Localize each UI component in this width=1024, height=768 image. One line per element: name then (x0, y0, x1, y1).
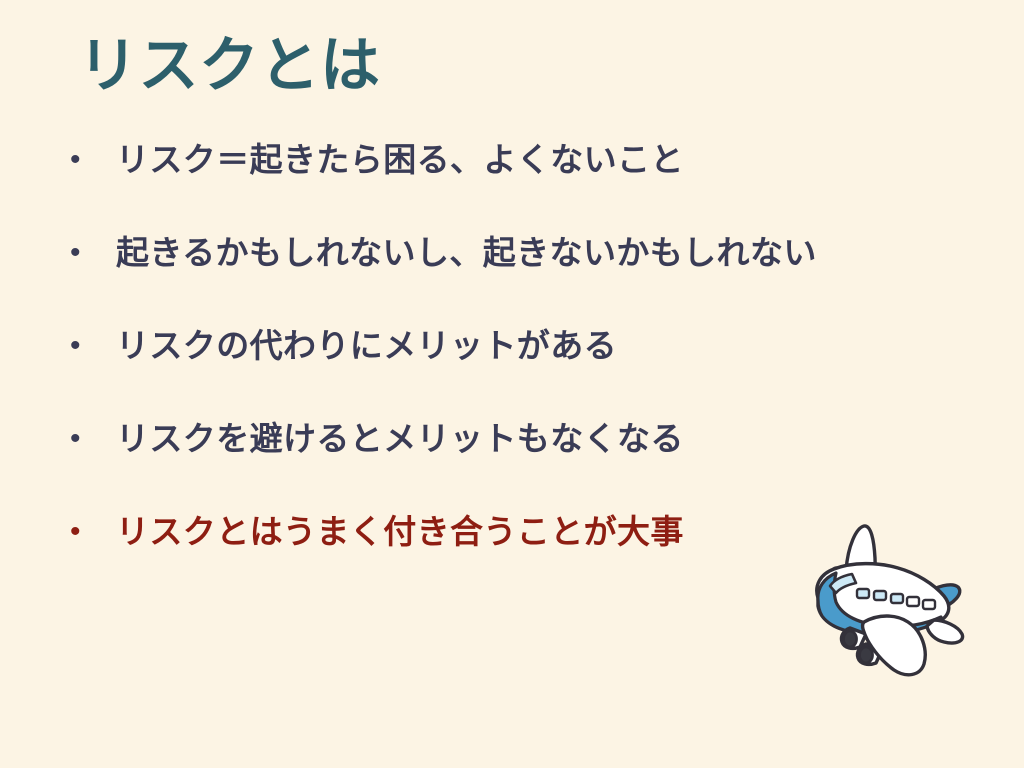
bullet-marker-icon: • (66, 420, 116, 458)
airplane-window (891, 594, 903, 603)
airplane-window (857, 589, 869, 598)
list-item: • リスクを避けるとメリットもなくなる (66, 420, 926, 513)
list-item-label: 起きるかもしれないし、起きないかもしれない (116, 234, 926, 272)
list-item: • リスクの代わりにメリットがある (66, 327, 926, 420)
bullet-marker-icon: • (66, 513, 116, 551)
list-item: • 起きるかもしれないし、起きないかもしれない (66, 234, 926, 327)
list-item-label: リスクの代わりにメリットがある (116, 327, 926, 365)
page-title: リスクとは (78, 31, 381, 100)
list-item: • リスク＝起きたら困る、よくないこと (66, 141, 926, 234)
airplane-illustration (786, 512, 986, 684)
slide: リスクとは • リスク＝起きたら困る、よくないこと • 起きるかもしれないし、起… (0, 0, 1024, 768)
airplane-engine-intake (844, 631, 857, 647)
bullet-marker-icon: • (66, 141, 116, 179)
bullet-marker-icon: • (66, 327, 116, 365)
airplane-engine-intake (860, 647, 873, 663)
airplane-rear-stabilizer (927, 620, 963, 643)
airplane-window (923, 600, 935, 609)
airplane-window (874, 591, 886, 600)
airplane-window (907, 597, 919, 606)
list-item-label: リスクを避けるとメリットもなくなる (116, 420, 926, 458)
list-item-label: リスク＝起きたら困る、よくないこと (116, 141, 926, 179)
bullet-marker-icon: • (66, 234, 116, 272)
